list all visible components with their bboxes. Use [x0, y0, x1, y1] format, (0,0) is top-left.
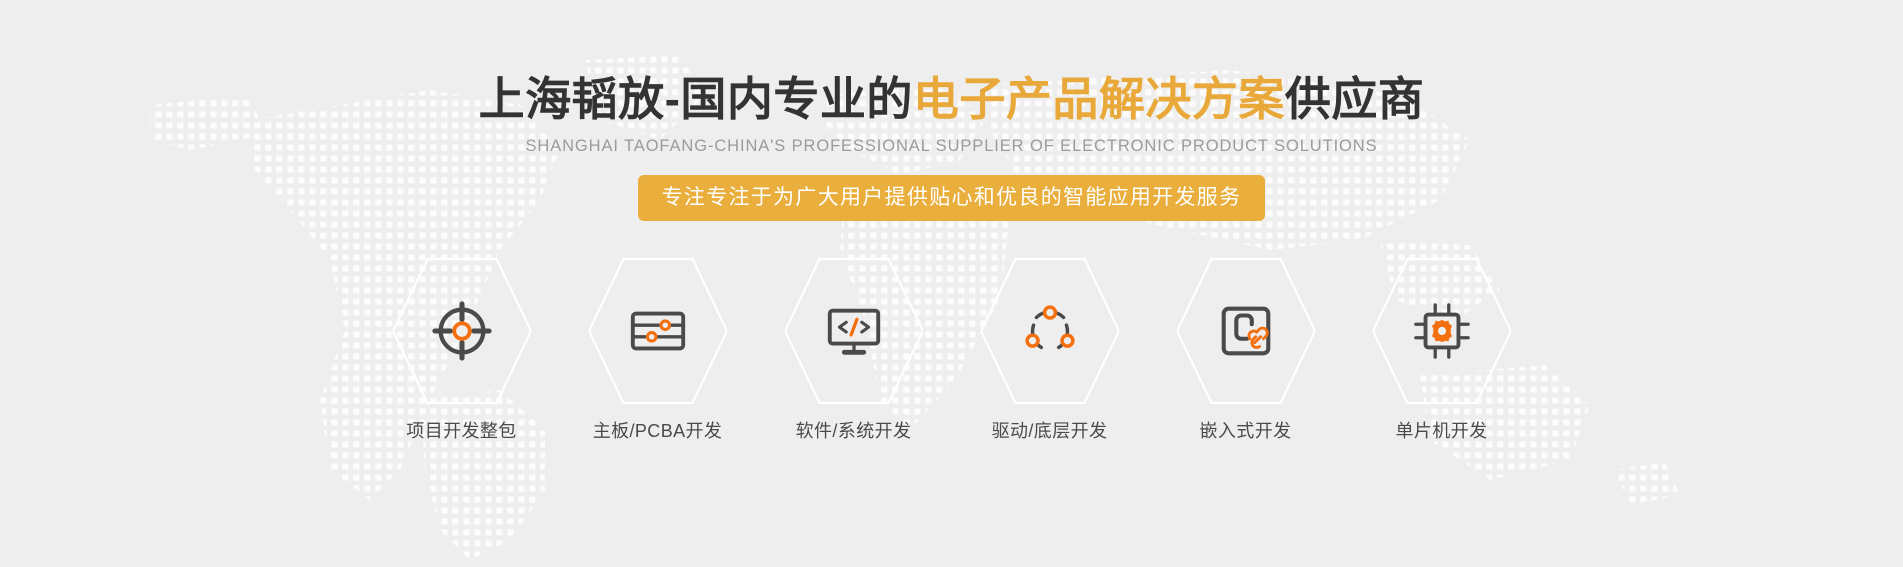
embedded-chip-link-icon	[1215, 300, 1277, 362]
monitor-code-icon	[823, 300, 885, 362]
crosshair-target-icon	[431, 300, 493, 362]
service-label: 项目开发整包	[406, 421, 516, 443]
banner-text-block: 上海韬放-国内专业的电子产品解决方案供应商 SHANGHAI TAOFANG-C…	[0, 74, 1903, 221]
headline-lead: 上海韬放-国内专业的	[479, 73, 913, 125]
service-item-pcba[interactable]: 主板/PCBA开发	[568, 255, 748, 443]
service-item-software[interactable]: 软件/系统开发	[764, 255, 944, 443]
service-item-driver[interactable]: 驱动/底层开发	[960, 255, 1140, 443]
service-label: 软件/系统开发	[796, 421, 912, 443]
service-label: 嵌入式开发	[1200, 421, 1292, 443]
headline-accent: 电子产品解决方案	[913, 73, 1285, 125]
microcontroller-gear-icon	[1411, 300, 1473, 362]
tagline-badge: 专注专注于为广大用户提供贴心和优良的智能应用开发服务	[638, 175, 1266, 221]
hexagon-frame	[1373, 255, 1511, 407]
service-label: 主板/PCBA开发	[593, 421, 723, 443]
hexagon-frame	[785, 255, 923, 407]
hexagon-frame	[1177, 255, 1315, 407]
node-network-icon	[1019, 300, 1081, 362]
service-list: 项目开发整包 主板/PCBA开发	[372, 255, 1532, 443]
hexagon-frame	[589, 255, 727, 407]
hexagon-frame	[393, 255, 531, 407]
hexagon-frame	[981, 255, 1119, 407]
service-item-project-package[interactable]: 项目开发整包	[372, 255, 552, 443]
hero-banner: 上海韬放-国内专业的电子产品解决方案供应商 SHANGHAI TAOFANG-C…	[0, 0, 1903, 567]
headline-tail: 供应商	[1285, 73, 1425, 125]
service-label: 驱动/底层开发	[992, 421, 1108, 443]
service-label: 单片机开发	[1396, 421, 1488, 443]
circuit-board-icon	[627, 300, 689, 362]
page-subtitle: SHANGHAI TAOFANG-CHINA'S PROFESSIONAL SU…	[0, 137, 1903, 157]
service-item-mcu[interactable]: 单片机开发	[1352, 255, 1532, 443]
service-item-embedded[interactable]: 嵌入式开发	[1156, 255, 1336, 443]
badge-row: 专注专注于为广大用户提供贴心和优良的智能应用开发服务	[0, 175, 1903, 221]
page-title: 上海韬放-国内专业的电子产品解决方案供应商	[0, 74, 1903, 125]
